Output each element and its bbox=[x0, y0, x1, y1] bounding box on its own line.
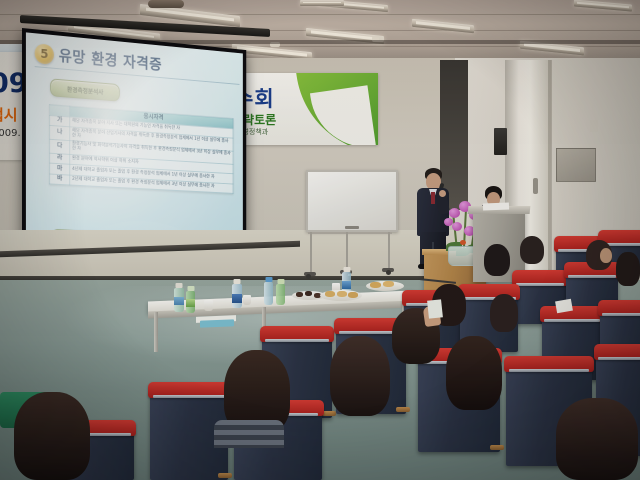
audience-hair bbox=[616, 252, 640, 286]
column-edge bbox=[548, 60, 552, 290]
presenter-tie bbox=[431, 192, 435, 204]
lecture-hall-photo: 수회 전략토론 환경정책과 09 업시 2009. 11. 5 유망 환경 자격… bbox=[0, 0, 640, 480]
seat-trim bbox=[509, 369, 588, 372]
slide-requirements-table: 응시자격 가해당 자격종목 분야 지사 또는 대학원의 기능인 자격을 취득한 … bbox=[49, 104, 233, 194]
audience-hair bbox=[446, 336, 502, 410]
audience-member bbox=[520, 236, 546, 266]
water-bottle bbox=[264, 282, 273, 305]
audience-member bbox=[14, 392, 92, 480]
banner-swoosh-inner-icon bbox=[310, 85, 376, 145]
orchid-bloom bbox=[452, 222, 462, 231]
orchid-bloom bbox=[449, 208, 460, 218]
snack-item bbox=[305, 291, 312, 296]
audience-hair bbox=[484, 244, 510, 276]
whiteboard-leg bbox=[388, 232, 390, 270]
whiteboard-marker-tray bbox=[345, 226, 359, 229]
whiteboard-caster bbox=[306, 274, 311, 279]
audience-member bbox=[616, 252, 640, 292]
water-bottle bbox=[232, 284, 242, 308]
seat-trim bbox=[265, 339, 329, 342]
whiteboard bbox=[306, 170, 396, 285]
paper-cup bbox=[204, 300, 213, 311]
seat-armrest bbox=[490, 445, 504, 450]
snack-item bbox=[383, 281, 394, 287]
event-banner-right: 수회 전략토론 환경정책과 bbox=[228, 73, 378, 145]
presenter-hand bbox=[439, 190, 446, 197]
seat-trim bbox=[544, 319, 599, 322]
orchid-accent bbox=[460, 240, 466, 245]
water-bottle bbox=[276, 284, 285, 305]
slide-number-badge: 5 bbox=[35, 43, 54, 65]
audience-member bbox=[490, 294, 520, 334]
seat-trim bbox=[598, 357, 640, 360]
audience-face bbox=[600, 248, 612, 263]
bottle-cap bbox=[176, 283, 183, 288]
audience-booklet bbox=[427, 299, 443, 318]
table-leg bbox=[154, 312, 158, 352]
wall-panel bbox=[556, 148, 596, 182]
wall-speaker-icon bbox=[494, 128, 507, 155]
whiteboard-crossbar bbox=[308, 232, 392, 234]
whiteboard-leg bbox=[346, 232, 348, 272]
snack-plate bbox=[320, 290, 362, 301]
audience-member bbox=[330, 336, 392, 420]
lectern-papers bbox=[483, 203, 509, 211]
seat-trim bbox=[568, 275, 616, 278]
audience-hair bbox=[330, 336, 390, 416]
audience-hair bbox=[490, 294, 518, 332]
snack-item bbox=[337, 291, 347, 297]
bottle-label bbox=[174, 297, 184, 305]
snack-plate bbox=[366, 281, 404, 291]
audience-shirt bbox=[214, 420, 284, 448]
audience-member bbox=[224, 350, 292, 440]
bottle-cap bbox=[187, 286, 194, 291]
bottle-cap bbox=[234, 279, 241, 284]
door-handle bbox=[533, 178, 538, 194]
slide-top-button: 환경측정분석사 bbox=[50, 78, 120, 101]
audience-hair bbox=[520, 236, 544, 264]
orchid-bloom bbox=[444, 218, 453, 226]
blue-notebook bbox=[200, 319, 234, 327]
whiteboard-leg bbox=[310, 232, 312, 274]
audience-member bbox=[484, 244, 512, 278]
audience-hair bbox=[14, 392, 90, 480]
audience-member bbox=[586, 240, 614, 274]
bottle-cap bbox=[277, 279, 284, 284]
seat-trim bbox=[602, 313, 640, 316]
ceiling-light bbox=[574, 0, 632, 12]
bottle-cap bbox=[343, 267, 350, 272]
table-row-label: 다 bbox=[50, 139, 70, 154]
ceiling-light bbox=[412, 19, 474, 34]
paper-cup bbox=[243, 295, 251, 305]
bottle-cap bbox=[265, 277, 272, 282]
audience-member bbox=[446, 336, 504, 412]
banner-headline: 업시 bbox=[0, 104, 18, 125]
audience-member bbox=[556, 398, 640, 480]
audience-hair bbox=[556, 398, 638, 480]
whiteboard-caster bbox=[386, 270, 391, 275]
seat-trim bbox=[153, 395, 225, 398]
seat-trim bbox=[516, 283, 564, 286]
seat-armrest bbox=[396, 407, 410, 412]
bottle-label bbox=[342, 281, 351, 289]
table-row-label: 바 bbox=[50, 174, 70, 186]
snack-item bbox=[325, 291, 335, 297]
water-bottle bbox=[174, 288, 184, 312]
bottle-label bbox=[232, 294, 242, 303]
seat-armrest bbox=[218, 473, 232, 478]
wall-vent bbox=[590, 120, 598, 132]
ceiling-light bbox=[300, 0, 344, 6]
snack-item bbox=[370, 282, 381, 288]
whiteboard-surface bbox=[306, 170, 398, 232]
snack-item bbox=[348, 292, 358, 298]
bottle-label bbox=[186, 299, 195, 307]
ceiling-speaker bbox=[148, 0, 184, 8]
water-bottle bbox=[186, 291, 195, 313]
snack-item bbox=[296, 292, 303, 297]
table-row-label: 나 bbox=[50, 126, 70, 141]
